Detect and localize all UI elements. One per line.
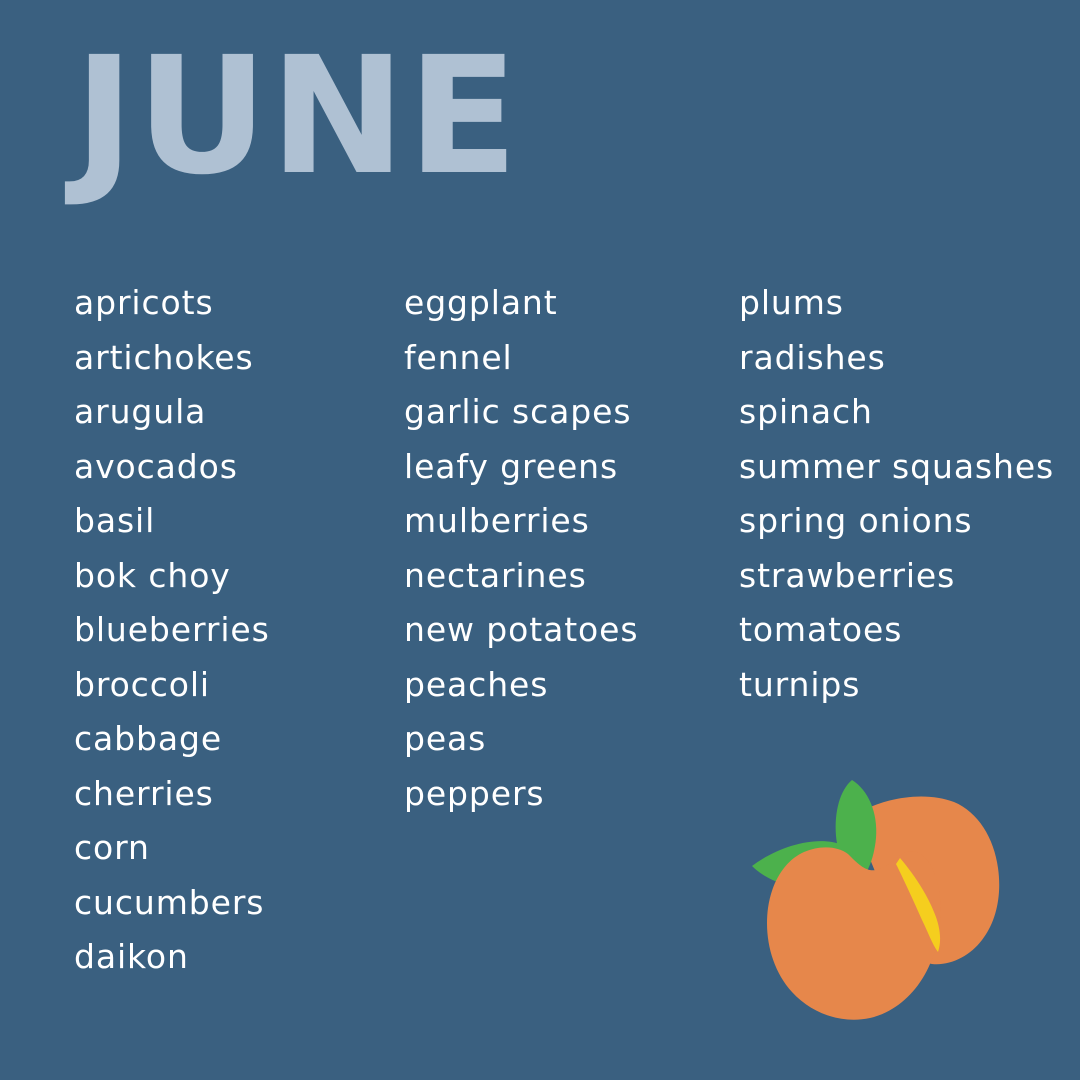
list-item: cucumbers bbox=[74, 876, 404, 931]
list-item: blueberries bbox=[74, 603, 404, 658]
list-item: bok choy bbox=[74, 549, 404, 604]
list-item: summer squashes bbox=[739, 440, 1080, 495]
list-item: leafy greens bbox=[404, 440, 739, 495]
list-item: corn bbox=[74, 821, 404, 876]
produce-column-3: plums radishes spinach summer squashes s… bbox=[739, 276, 1080, 712]
list-item: arugula bbox=[74, 385, 404, 440]
produce-column-2: eggplant fennel garlic scapes leafy gree… bbox=[404, 276, 739, 821]
list-item: nectarines bbox=[404, 549, 739, 604]
list-item: spinach bbox=[739, 385, 1080, 440]
list-item: fennel bbox=[404, 331, 739, 386]
list-item: avocados bbox=[74, 440, 404, 495]
list-item: artichokes bbox=[74, 331, 404, 386]
list-item: strawberries bbox=[739, 549, 1080, 604]
list-item: spring onions bbox=[739, 494, 1080, 549]
page-title: JUNE bbox=[74, 36, 520, 198]
list-item: tomatoes bbox=[739, 603, 1080, 658]
list-item: new potatoes bbox=[404, 603, 739, 658]
list-item: eggplant bbox=[404, 276, 739, 331]
peach-illustration bbox=[742, 768, 1024, 1048]
list-item: basil bbox=[74, 494, 404, 549]
list-item: garlic scapes bbox=[404, 385, 739, 440]
list-item: apricots bbox=[74, 276, 404, 331]
list-item: turnips bbox=[739, 658, 1080, 713]
list-item: broccoli bbox=[74, 658, 404, 713]
seasonal-produce-poster: JUNE apricots artichokes arugula avocado… bbox=[0, 0, 1080, 1080]
list-item: cherries bbox=[74, 767, 404, 822]
peach-front-shape bbox=[767, 847, 941, 1019]
list-item: daikon bbox=[74, 930, 404, 985]
list-item: mulberries bbox=[404, 494, 739, 549]
list-item: peaches bbox=[404, 658, 739, 713]
list-item: cabbage bbox=[74, 712, 404, 767]
produce-column-1: apricots artichokes arugula avocados bas… bbox=[74, 276, 404, 985]
list-item: plums bbox=[739, 276, 1080, 331]
list-item: radishes bbox=[739, 331, 1080, 386]
list-item: peas bbox=[404, 712, 739, 767]
list-item: peppers bbox=[404, 767, 739, 822]
